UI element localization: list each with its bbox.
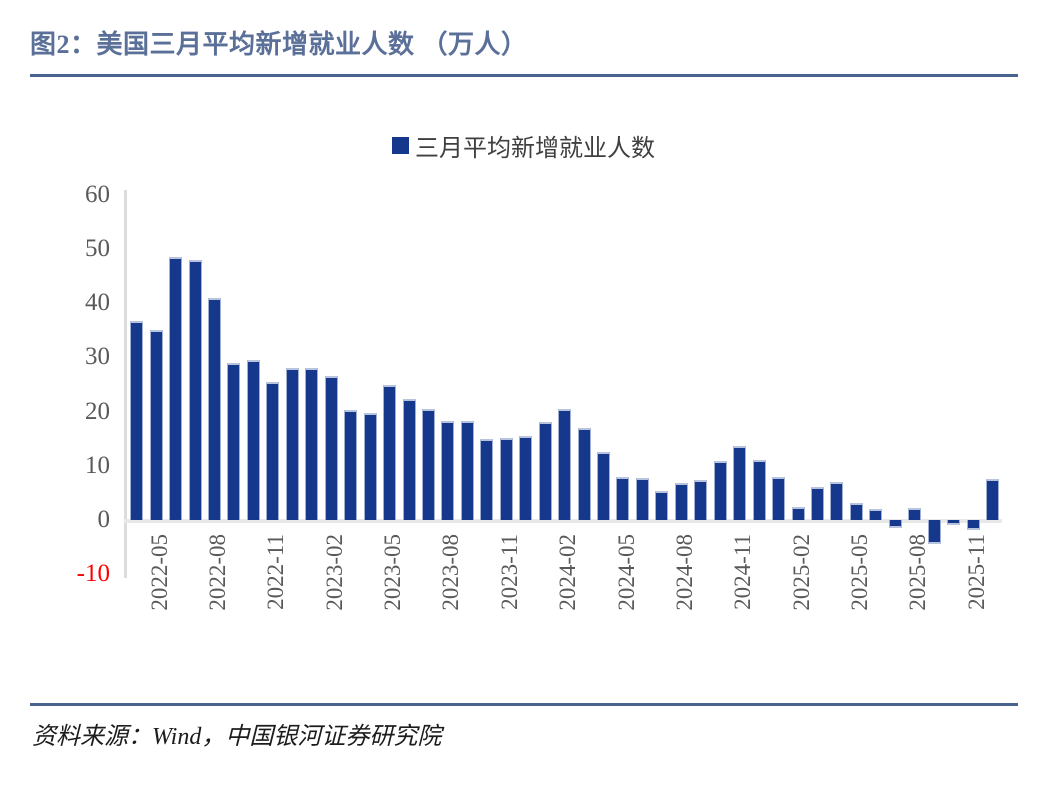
- y-axis-tick-neg10: -10: [44, 561, 110, 586]
- y-axis-tick-40: 40: [44, 290, 110, 315]
- x-axis-tick-label: 2025-02: [790, 534, 813, 611]
- figure-container: 图2：美国三月平均新增就业人数 （万人） 三月平均新增就业人数 60504030…: [0, 0, 1047, 799]
- x-axis-tick-label: 2022-05: [148, 534, 171, 611]
- x-axis-tick-label: 2023-05: [381, 534, 404, 611]
- x-axis-tick-label: 2022-08: [206, 534, 229, 611]
- x-axis-tick-label: 2022-11: [264, 534, 287, 610]
- y-axis-tick-30: 30: [44, 344, 110, 369]
- y-axis-tick-60: 60: [44, 182, 110, 207]
- x-axis-tick-label: 2024-11: [731, 534, 754, 610]
- chart-plot-area: 6050403020100-10 2022-052022-082022-1120…: [0, 0, 1047, 799]
- x-axis-tick-label: 2024-05: [615, 534, 638, 611]
- y-axis-tick-labels: 6050403020100-10: [44, 0, 110, 799]
- y-axis-tick-20: 20: [44, 399, 110, 424]
- y-axis-tick-50: 50: [44, 236, 110, 261]
- source-note: 资料来源：Wind，中国银河证券研究院: [32, 716, 441, 751]
- x-axis-tick-label: 2025-11: [965, 534, 988, 610]
- x-axis-tick-label: 2024-08: [673, 534, 696, 611]
- x-axis-tick-label: 2023-11: [498, 534, 521, 610]
- x-axis-tick-label: 2023-02: [323, 534, 346, 611]
- x-axis-tick-label: 2025-08: [906, 534, 929, 611]
- x-axis-tick-label: 2023-08: [439, 534, 462, 611]
- y-axis-tick-0: 0: [44, 507, 110, 532]
- x-axis-tick-labels: 2022-052022-082022-112023-022023-052023-…: [127, 0, 1002, 799]
- x-axis-tick-label: 2025-05: [848, 534, 871, 611]
- y-axis-tick-10: 10: [44, 453, 110, 478]
- footer-divider: [30, 703, 1018, 706]
- x-axis-tick-label: 2024-02: [556, 534, 579, 611]
